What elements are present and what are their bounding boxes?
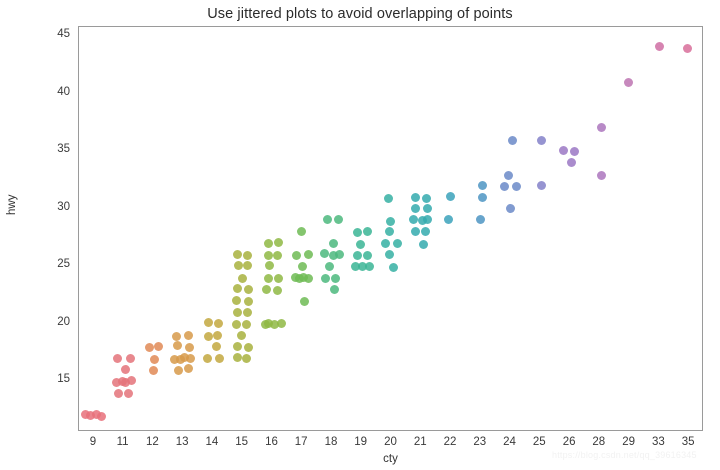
scatter-point (274, 274, 283, 283)
scatter-point (204, 332, 213, 341)
y-tick-label: 30 (44, 201, 70, 213)
scatter-point (381, 239, 390, 248)
x-tick-label: 18 (316, 436, 346, 448)
watermark-text: https://blog.csdn.net/qq_39616345 (552, 450, 697, 460)
scatter-point (243, 308, 252, 317)
scatter-point (411, 227, 420, 236)
y-tick-label: 45 (44, 28, 70, 40)
scatter-point (215, 354, 224, 363)
x-tick-label: 9 (78, 436, 108, 448)
scatter-point (446, 192, 455, 201)
x-tick-label: 25 (524, 436, 554, 448)
x-tick-label: 23 (465, 436, 495, 448)
scatter-point (321, 274, 330, 283)
scatter-point (126, 354, 135, 363)
x-tick-label: 22 (435, 436, 465, 448)
x-tick-label: 13 (167, 436, 197, 448)
scatter-point (127, 376, 136, 385)
scatter-point (233, 250, 242, 259)
scatter-point (506, 204, 515, 213)
chart-figure: Use jittered plots to avoid overlapping … (0, 0, 720, 470)
scatter-point (274, 238, 283, 247)
scatter-point (508, 136, 517, 145)
scatter-point (537, 136, 546, 145)
scatter-point (244, 297, 253, 306)
scatter-point (273, 286, 282, 295)
scatter-point (114, 389, 123, 398)
scatter-point (478, 193, 487, 202)
scatter-point (150, 355, 159, 364)
scatter-point (421, 227, 430, 236)
scatter-point (423, 215, 432, 224)
scatter-point (244, 285, 253, 294)
scatter-point (363, 251, 372, 260)
x-tick-label: 14 (197, 436, 227, 448)
y-tick-label: 25 (44, 258, 70, 270)
scatter-point (121, 365, 130, 374)
scatter-point (570, 147, 579, 156)
scatter-point (214, 319, 223, 328)
scatter-point (265, 261, 274, 270)
scatter-point (419, 240, 428, 249)
scatter-point (233, 284, 242, 293)
scatter-point (243, 261, 252, 270)
scatter-point (386, 217, 395, 226)
scatter-point (476, 215, 485, 224)
x-tick-label: 29 (614, 436, 644, 448)
scatter-point (184, 331, 193, 340)
scatter-point (242, 354, 251, 363)
scatter-point (504, 171, 513, 180)
scatter-point (624, 78, 633, 87)
scatter-point (233, 353, 242, 362)
y-tick-label: 35 (44, 143, 70, 155)
x-tick-label: 33 (643, 436, 673, 448)
scatter-point (363, 227, 372, 236)
scatter-point (335, 250, 344, 259)
y-axis-label: hwy (6, 195, 18, 215)
scatter-point (389, 263, 398, 272)
scatter-point (184, 364, 193, 373)
scatter-point (262, 285, 271, 294)
scatter-point (277, 319, 286, 328)
scatter-point (512, 182, 521, 191)
scatter-point (174, 366, 183, 375)
scatter-point (597, 123, 606, 132)
x-tick-label: 24 (495, 436, 525, 448)
y-tick-label: 20 (44, 316, 70, 328)
scatter-point (113, 354, 122, 363)
scatter-point (264, 239, 273, 248)
scatter-point (385, 250, 394, 259)
scatter-point (97, 412, 106, 421)
x-tick-label: 20 (376, 436, 406, 448)
x-tick-label: 19 (346, 436, 376, 448)
scatter-point (329, 239, 338, 248)
scatter-point (323, 215, 332, 224)
scatter-point (185, 343, 194, 352)
page-title: Use jittered plots to avoid overlapping … (0, 6, 720, 22)
scatter-point (300, 297, 309, 306)
scatter-point (124, 389, 133, 398)
scatter-point (478, 181, 487, 190)
scatter-point (567, 158, 576, 167)
scatter-point (393, 239, 402, 248)
scatter-point (233, 308, 242, 317)
scatter-point (145, 343, 154, 352)
scatter-point (330, 285, 339, 294)
scatter-point (243, 251, 252, 260)
scatter-point (325, 262, 334, 271)
scatter-point (203, 354, 212, 363)
scatter-point (242, 320, 251, 329)
scatter-point (304, 250, 313, 259)
x-tick-label: 15 (227, 436, 257, 448)
scatter-point (172, 332, 181, 341)
scatter-point (149, 366, 158, 375)
scatter-point (298, 262, 307, 271)
scatter-point (238, 274, 247, 283)
y-tick-label: 15 (44, 373, 70, 385)
scatter-point (273, 251, 282, 260)
scatter-point (264, 251, 273, 260)
scatter-point (334, 215, 343, 224)
scatter-point (154, 342, 163, 351)
scatter-point (500, 182, 509, 191)
scatter-point (292, 251, 301, 260)
scatter-point (597, 171, 606, 180)
scatter-point (320, 249, 329, 258)
scatter-point (655, 42, 664, 51)
x-tick-label: 21 (405, 436, 435, 448)
x-tick-label: 28 (584, 436, 614, 448)
scatter-point (232, 296, 241, 305)
scatter-point (356, 240, 365, 249)
x-tick-label: 26 (554, 436, 584, 448)
scatter-point (297, 227, 306, 236)
scatter-point (353, 228, 362, 237)
scatter-point (212, 342, 221, 351)
scatter-point (237, 331, 246, 340)
scatter-point (353, 251, 362, 260)
scatter-point (264, 274, 273, 283)
scatter-point (422, 194, 431, 203)
scatter-point (559, 146, 568, 155)
scatter-point (233, 342, 242, 351)
x-tick-label: 12 (137, 436, 167, 448)
scatter-point (244, 343, 253, 352)
scatter-point (385, 227, 394, 236)
scatter-point (537, 181, 546, 190)
scatter-point (304, 274, 313, 283)
scatter-point (331, 274, 340, 283)
scatter-point (234, 261, 243, 270)
scatter-point (173, 341, 182, 350)
scatter-point (232, 320, 241, 329)
scatter-point (186, 354, 195, 363)
x-tick-label: 16 (257, 436, 287, 448)
plot-area (78, 26, 703, 431)
scatter-point (411, 193, 420, 202)
scatter-point (204, 318, 213, 327)
scatter-point (683, 44, 692, 53)
x-tick-label: 35 (673, 436, 703, 448)
scatter-point (213, 331, 222, 340)
scatter-point (409, 215, 418, 224)
scatter-point (384, 194, 393, 203)
x-tick-label: 11 (108, 436, 138, 448)
scatter-point (365, 262, 374, 271)
scatter-point (423, 204, 432, 213)
y-tick-label: 40 (44, 86, 70, 98)
x-tick-label: 17 (286, 436, 316, 448)
scatter-point (444, 215, 453, 224)
scatter-point (411, 204, 420, 213)
